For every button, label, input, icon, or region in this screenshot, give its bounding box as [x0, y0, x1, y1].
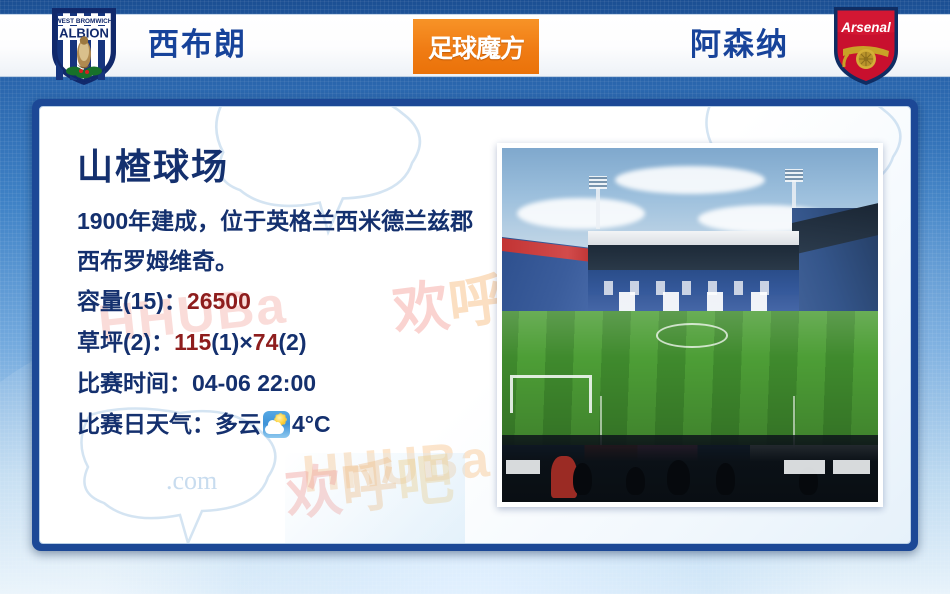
- photo-sign: [784, 460, 825, 474]
- cloud-shape: [265, 425, 284, 434]
- site-logo[interactable]: 足球魔方: [413, 19, 539, 74]
- pitch-width-rank: (2): [278, 329, 306, 355]
- photo-sign: [833, 460, 871, 474]
- stadium-info-column: 山楂球场 1900年建成，位于英格兰西米德兰兹郡西布罗姆维奇。 容量(15)：2…: [77, 145, 497, 445]
- watermark-brand-cn: 欢呼吧: [281, 433, 457, 531]
- photo-sign: [506, 460, 540, 474]
- pitch-size-row: 草坪(2)：115(1)×74(2): [77, 322, 497, 363]
- photo-main-stand-roof: [588, 231, 799, 246]
- photo-center-circle: [656, 323, 727, 348]
- away-team-badge[interactable]: Arsenal: [828, 2, 904, 88]
- watermark-brand-prefix: H: [300, 443, 344, 504]
- photo-cloud: [615, 166, 765, 194]
- photo-cloud: [517, 198, 645, 230]
- watermark-cn-char-3: 吧: [394, 446, 456, 515]
- svg-text:Arsenal: Arsenal: [840, 20, 891, 35]
- photo-spectator: [667, 460, 690, 495]
- home-team-badge[interactable]: WEST BROMWICH ALBION: [46, 2, 122, 88]
- stadium-photo: [502, 148, 878, 502]
- weather-temperature: 4°C: [292, 404, 331, 445]
- home-team-name: 西布朗: [148, 27, 247, 63]
- stadium-photo-frame[interactable]: [497, 143, 883, 507]
- capacity-label: 容量(15)：: [77, 288, 187, 314]
- weather-condition: 多云: [215, 404, 261, 445]
- match-weather-row: 比赛日天气：多云4°C: [77, 404, 497, 445]
- stadium-card: .com .com HHUBa HHUBa 欢呼吧 欢呼吧: [39, 106, 911, 544]
- match-time-label: 比赛时间：: [77, 370, 192, 396]
- stadium-card-frame: .com .com HHUBa HHUBa 欢呼吧 欢呼吧: [32, 99, 918, 551]
- screenshot-root: WEST BROMWICH ALBION 西布朗 足球魔方 阿森纳 Ars: [0, 0, 950, 594]
- stadium-title: 山楂球场: [77, 145, 497, 189]
- pitch-label: 草坪(2)：: [77, 329, 174, 355]
- capacity-value: 26500: [187, 288, 251, 314]
- pitch-length-rank: (1): [211, 329, 239, 355]
- photo-goal: [510, 375, 593, 414]
- capacity-row: 容量(15)：26500: [77, 281, 497, 322]
- pitch-length-value: 115: [174, 329, 211, 355]
- site-logo-text: 足球魔方: [428, 29, 524, 65]
- away-team-name: 阿森纳: [690, 27, 789, 63]
- svg-text:WEST BROMWICH: WEST BROMWICH: [56, 18, 113, 25]
- floodlight-tower: [596, 187, 600, 229]
- pitch-size-separator: ×: [239, 329, 252, 355]
- sun-behind-cloud-icon: [263, 411, 290, 438]
- weather-label: 比赛日天气：: [77, 404, 215, 445]
- watermark-cn-char-2: 呼: [338, 452, 400, 521]
- card-corner-gradient: [285, 453, 465, 543]
- photo-spectator: [626, 467, 645, 495]
- match-time-value: 04-06 22:00: [192, 370, 316, 396]
- watermark-cn-char-1: 欢: [283, 458, 345, 527]
- photo-main-stand-shadow: [588, 245, 799, 272]
- photo-spectator: [716, 463, 735, 495]
- pitch-width-value: 74: [253, 329, 279, 355]
- svg-text:.com: .com: [166, 466, 217, 495]
- stadium-description: 1900年建成，位于英格兰西米德兰兹郡西布罗姆维奇。: [77, 201, 481, 281]
- match-time-row: 比赛时间：04-06 22:00: [77, 363, 497, 404]
- photo-spectator: [573, 463, 592, 495]
